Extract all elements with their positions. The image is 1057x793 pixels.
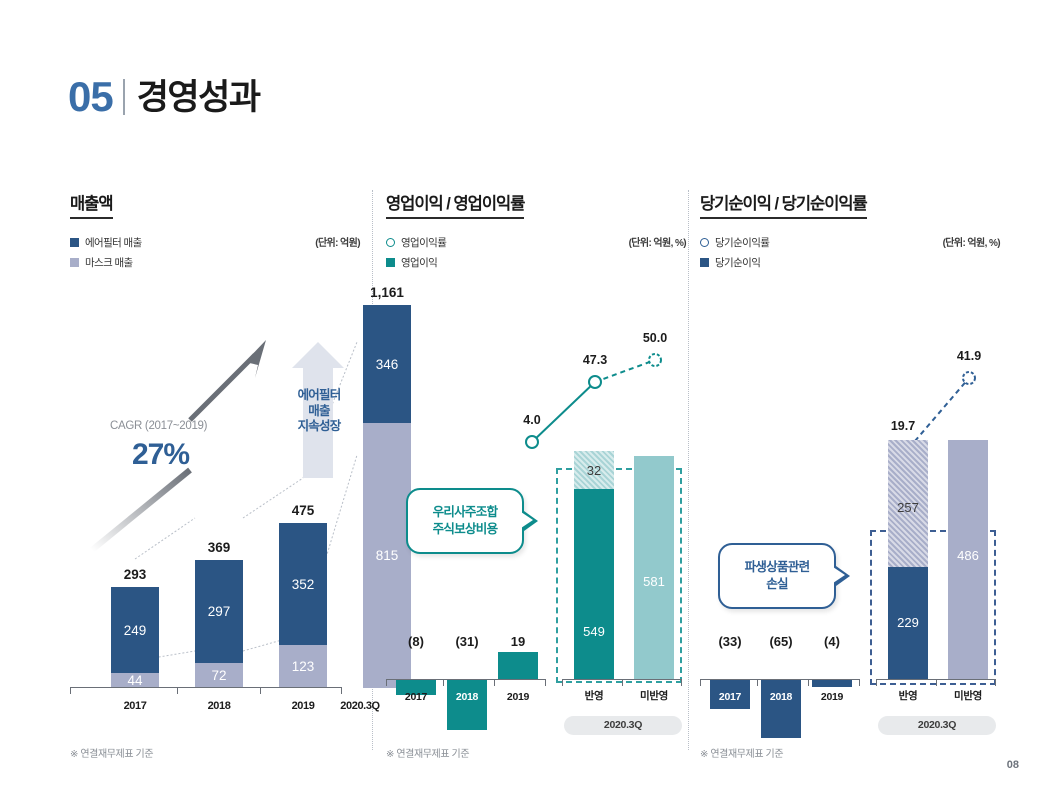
callout-ni-line-1: 파생상품관련 [745, 559, 810, 576]
unit-label-revenue: (단위: 억원) [315, 234, 360, 249]
op-tick-3 [545, 680, 546, 686]
legend-swatch-icon-ni [700, 258, 709, 267]
x-label-op-2018: 2018 [447, 691, 487, 703]
bar-segment-airfilter-2017: 249 [111, 587, 159, 673]
op-tick-0 [386, 680, 387, 686]
zero-axis-op-left [386, 679, 546, 680]
ni-tick-2 [808, 680, 809, 686]
x-label-op-reflected: 반영 [574, 688, 614, 703]
chart-net-income: 19.7 41.9 파생상품관련 손실 229 257 48 [700, 285, 1000, 725]
arrow-caption: 에어필터 매출 지속성장 [288, 388, 350, 435]
arrow-caption-line-1: 에어필터 [288, 388, 350, 404]
bar-ni-derivative-loss: 257 [888, 440, 928, 567]
legend-swatch-icon-op-profit [386, 258, 395, 267]
bar-value-ni-reflected: 229 [897, 615, 919, 630]
callout-op-line-2: 주식보상비용 [433, 521, 498, 538]
bar-op-2019 [498, 652, 538, 680]
bar-total-2019: 475 [279, 503, 327, 518]
chart-operating-profit: 4.0 47.3 50.0 우리사주조합 주식보상비용 549 32 [386, 285, 686, 725]
x-label-op-2017: 2017 [396, 691, 436, 703]
bar-value-op-2017: (8) [394, 634, 438, 649]
bar-column-2017: 293 249 44 [111, 587, 159, 688]
bar-column-2019: 475 352 123 [279, 523, 327, 688]
quarter-pill-ni: 2020.3Q [878, 716, 996, 735]
legend-label-airfilter: 에어필터 매출 [85, 235, 142, 250]
callout-op-line-1: 우리사주조합 [433, 504, 498, 521]
line-point-label-ni-unreflected: 41.9 [946, 349, 992, 363]
legend-label-ni: 당기순이익 [715, 255, 760, 270]
bar-column-2018: 369 297 72 [195, 560, 243, 688]
line-point-label-2018: 4.0 [509, 413, 555, 427]
x-tick-3 [341, 688, 342, 694]
arrow-caption-line-2: 매출 [288, 404, 350, 420]
bar-value-op-2018: (31) [445, 634, 489, 649]
op-tick-1 [443, 680, 444, 686]
legend-circle-icon-op-margin [386, 238, 395, 247]
legend-swatch-icon-mask [70, 258, 79, 267]
callout-net-income: 파생상품관련 손실 [718, 543, 836, 609]
legend-label-op-margin: 영업이익률 [401, 235, 446, 250]
panel-title-revenue: 매출액 [70, 190, 113, 219]
title-divider [123, 79, 125, 115]
zero-axis-ni-left [700, 679, 860, 680]
panel-net-income: 당기순이익 / 당기순이익률 (단위: 억원, %) 당기순이익률 당기순이익 … [700, 190, 1000, 750]
x-tick-2 [260, 688, 261, 694]
unit-label-operating-profit: (단위: 억원, %) [629, 234, 686, 249]
bar-segment-airfilter-2018: 297 [195, 560, 243, 663]
page-number: 08 [1007, 759, 1019, 771]
bar-op-unreflected: 581 [634, 456, 674, 680]
bar-value-ni-unreflected: 486 [957, 548, 979, 563]
bar-segment-mask-2019: 123 [279, 645, 327, 688]
bar-op-2018 [447, 680, 487, 730]
panel-title-operating-profit: 영업이익 / 영업이익률 [386, 190, 524, 219]
line-point-label-2019: 47.3 [572, 353, 618, 367]
bar-ni-2018 [761, 680, 801, 738]
op-tick-6 [681, 680, 682, 686]
x-label-op-unreflected: 미반영 [634, 688, 674, 703]
x-tick-0 [70, 688, 71, 694]
section-title: 경영성과 [137, 80, 260, 115]
section-number: 05 [68, 76, 113, 118]
panel-operating-profit: 영업이익 / 영업이익률 (단위: 억원, %) 영업이익률 영업이익 4.0 [386, 190, 686, 750]
line-point-label-2020: 50.0 [632, 331, 678, 345]
bar-value-op-unreflected: 581 [643, 574, 665, 589]
bar-segment-mask-2018: 72 [195, 663, 243, 688]
bar-value-airfilter-2017: 249 [124, 623, 147, 638]
callout-ni-line-2: 손실 [745, 576, 810, 593]
callout-op-tail-inner [521, 512, 533, 528]
slide-root: 05 경영성과 매출액 (단위: 억원) 에어필터 매출 마스크 매출 [0, 0, 1057, 793]
bar-value-op-2019: 19 [498, 634, 538, 649]
bar-ni-reflected: 229 [888, 567, 928, 680]
x-label-2018: 2018 [187, 700, 251, 712]
bar-total-2018: 369 [195, 540, 243, 555]
x-label-ni-2017: 2017 [710, 691, 750, 703]
ni-tick-6 [995, 680, 996, 686]
legend-item-op-profit: 영업이익 [386, 255, 686, 270]
bar-op-reflected: 549 [574, 489, 614, 680]
legend-circle-icon-ni-margin [700, 238, 709, 247]
x-label-ni-unreflected: 미반영 [948, 688, 988, 703]
legend-item-ni: 당기순이익 [700, 255, 1000, 270]
bar-ni-2019 [812, 680, 852, 687]
panel-title-net-income: 당기순이익 / 당기순이익률 [700, 190, 867, 219]
callout-op-profit: 우리사주조합 주식보상비용 [406, 488, 524, 554]
callout-ni-tail-inner [833, 567, 845, 583]
chart-revenue: CAGR (2017~2019) 27% 에어필터 매출 지속성장 293 24… [70, 320, 360, 720]
bar-total-2017: 293 [111, 567, 159, 582]
ni-tick-5 [936, 680, 937, 686]
bar-value-airfilter-2018: 297 [208, 604, 231, 619]
panel-divider-2 [688, 190, 689, 750]
legend-swatch-icon-airfilter [70, 238, 79, 247]
legend-label-op-profit: 영업이익 [401, 255, 437, 270]
legend-item-mask: 마스크 매출 [70, 255, 360, 270]
bar-segment-mask-2017: 44 [111, 673, 159, 688]
bar-op-stock-comp: 32 [574, 451, 614, 489]
ni-tick-1 [757, 680, 758, 686]
x-axis-revenue [70, 687, 342, 688]
ni-tick-0 [700, 680, 701, 686]
unit-label-net-income: (단위: 억원, %) [943, 234, 1000, 249]
line-point-label-ni-reflected: 19.7 [880, 419, 926, 433]
bar-value-mask-2019: 123 [292, 659, 315, 674]
footnote-operating-profit: ※ 연결재무제표 기준 [386, 745, 469, 760]
cagr-label: CAGR (2017~2019) [110, 420, 207, 432]
op-tick-4 [562, 680, 563, 686]
bar-value-airfilter-2019: 352 [292, 577, 315, 592]
quarter-pill-op: 2020.3Q [564, 716, 682, 735]
x-label-op-2019: 2019 [498, 691, 538, 703]
op-tick-5 [622, 680, 623, 686]
page-title: 05 경영성과 [68, 76, 260, 118]
x-label-2017: 2017 [103, 700, 167, 712]
footnote-net-income: ※ 연결재무제표 기준 [700, 745, 783, 760]
x-label-ni-2019: 2019 [812, 691, 852, 703]
bar-ni-unreflected: 486 [948, 440, 988, 680]
bar-value-op-stock-comp: 32 [587, 463, 601, 478]
bar-segment-airfilter-2019: 352 [279, 523, 327, 645]
cagr-value: 27% [132, 438, 189, 472]
bar-value-ni-derivative-loss: 257 [897, 500, 919, 515]
arrow-caption-line-3: 지속성장 [288, 419, 350, 435]
bar-value-op-reflected: 549 [583, 624, 605, 639]
footnote-revenue: ※ 연결재무제표 기준 [70, 745, 153, 760]
x-label-ni-reflected: 반영 [888, 688, 928, 703]
bar-value-ni-2019: (4) [810, 634, 854, 649]
legend-label-mask: 마스크 매출 [85, 255, 133, 270]
bar-value-ni-2017: (33) [708, 634, 752, 649]
legend-label-ni-margin: 당기순이익률 [715, 235, 769, 250]
bar-value-mask-2018: 72 [211, 668, 226, 683]
ni-tick-4 [876, 680, 877, 686]
x-label-ni-2018: 2018 [761, 691, 801, 703]
bar-value-ni-2018: (65) [759, 634, 803, 649]
x-tick-1 [177, 688, 178, 694]
panel-revenue: 매출액 (단위: 억원) 에어필터 매출 마스크 매출 [70, 190, 360, 750]
ni-tick-3 [859, 680, 860, 686]
op-tick-2 [494, 680, 495, 686]
bar-value-mask-2017: 44 [127, 673, 142, 688]
